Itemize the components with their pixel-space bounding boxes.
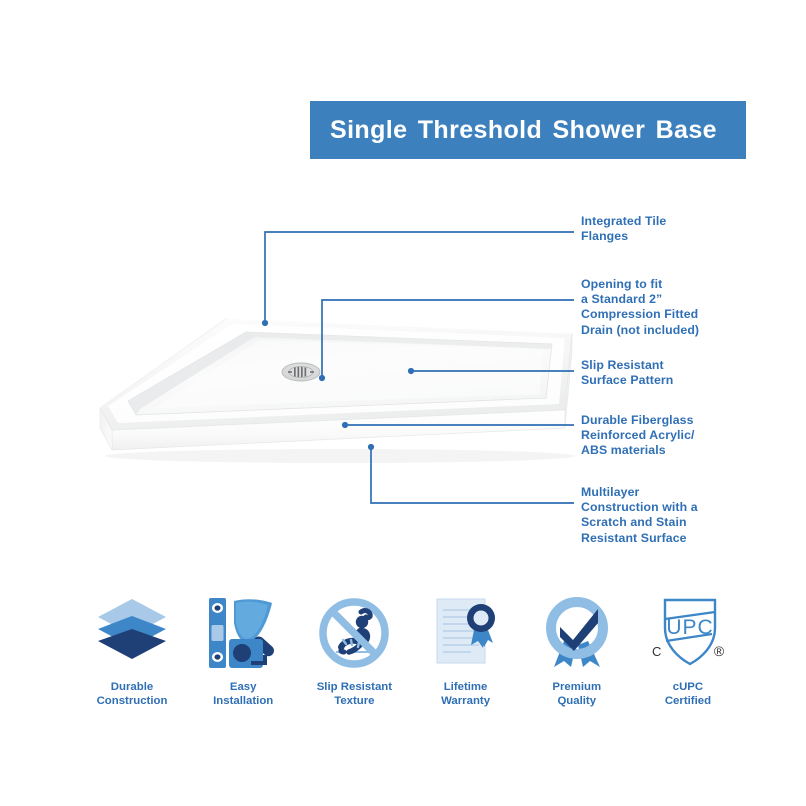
drain-icon <box>282 363 320 381</box>
certificate-ribbon-icon <box>431 592 501 674</box>
title-banner: Single Threshold Shower Base <box>310 101 746 159</box>
check-rosette-icon <box>540 592 614 674</box>
page-title: Single Threshold Shower Base <box>330 116 717 145</box>
callout-label-drain-opening: Opening to fit a Standard 2” Compression… <box>581 277 699 338</box>
no-slip-icon <box>316 592 392 674</box>
callout-label-slip-resistant-surface: Slip Resistant Surface Pattern <box>581 358 673 388</box>
cupc-mark-left: C <box>652 644 661 659</box>
callout-label-multilayer-construction: Multilayer Construction with a Scratch a… <box>581 485 698 546</box>
feature-lifetime-warranty: Lifetime Warranty <box>414 592 518 708</box>
callout-label-integrated-tile-flanges: Integrated Tile Flanges <box>581 214 666 244</box>
feature-durable-construction: Durable Construction <box>80 592 184 708</box>
feature-easy-installation: Easy Installation <box>191 592 295 708</box>
callout-label-durable-materials: Durable Fiberglass Reinforced Acrylic/ A… <box>581 413 695 459</box>
level-and-trowel-icon <box>206 592 280 674</box>
feature-label: Easy Installation <box>213 680 273 708</box>
infographic-page: Single Threshold Shower Base <box>0 0 806 806</box>
feature-label: Durable Construction <box>97 680 168 708</box>
feature-label: Lifetime Warranty <box>441 680 490 708</box>
registered-mark: ® <box>714 643 725 659</box>
upc-shield-text: UPC <box>666 616 713 639</box>
upc-shield-icon: UPC C ® <box>645 592 731 674</box>
feature-label: Slip Resistant Texture <box>317 680 392 708</box>
feature-cupc-certified: UPC C ® cUPC Certified <box>636 592 740 708</box>
layered-diamonds-icon <box>93 592 171 674</box>
feature-premium-quality: Premium Quality <box>525 592 629 708</box>
shower-base-drawing <box>60 300 590 490</box>
feature-slip-resistant-texture: Slip Resistant Texture <box>302 592 406 708</box>
feature-label: cUPC Certified <box>665 680 711 708</box>
feature-badge-row: Durable Construction <box>80 592 740 717</box>
feature-label: Premium Quality <box>552 680 601 708</box>
product-illustration <box>60 300 590 490</box>
